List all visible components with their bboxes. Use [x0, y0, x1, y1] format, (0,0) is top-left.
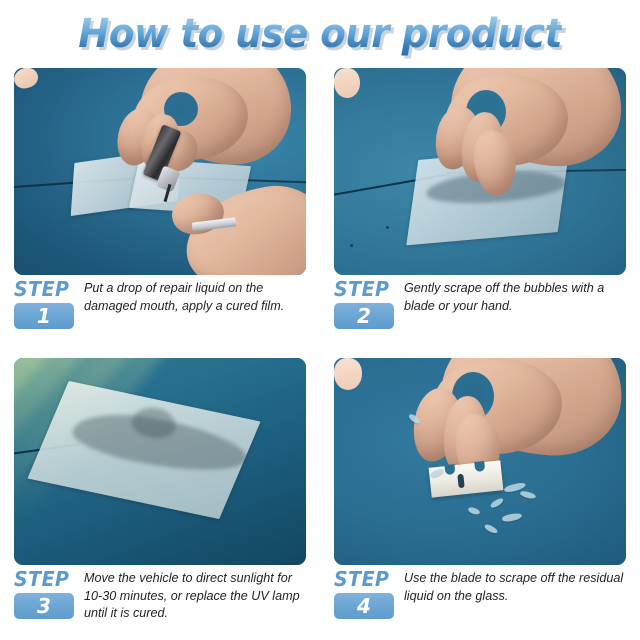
step-2-photo — [334, 68, 626, 275]
fingernail-shape — [334, 68, 361, 99]
step-cell-2: STEP 2 Gently scrape off the bubbles wit… — [320, 64, 640, 354]
step-cell-3: STEP 3 Move the vehicle to direct sunlig… — [0, 354, 320, 640]
step-3-badge: STEP 3 — [14, 568, 76, 619]
step-3-caption: STEP 3 Move the vehicle to direct sunlig… — [14, 568, 306, 623]
step-4-description: Use the blade to scrape off the residual… — [404, 568, 626, 605]
step-1-word: STEP — [14, 279, 73, 300]
step-1-badge: STEP 1 — [14, 278, 76, 329]
step-2-badge: STEP 2 — [334, 278, 396, 329]
fingernail-shape — [334, 358, 362, 390]
hand-icon — [334, 358, 362, 390]
step-4-badge: STEP 4 — [334, 568, 396, 619]
hand-icon — [334, 68, 360, 98]
step-3-word: STEP — [14, 569, 73, 590]
hand-icon — [14, 68, 38, 88]
step-2-caption: STEP 2 Gently scrape off the bubbles wit… — [334, 278, 626, 329]
step-4-photo — [334, 358, 626, 565]
steps-grid: STEP 1 Put a drop of repair liquid on th… — [0, 64, 640, 640]
step-2-word: STEP — [334, 279, 393, 300]
page-title: How to use our product How to use our pr… — [0, 8, 640, 60]
step-1-caption: STEP 1 Put a drop of repair liquid on th… — [14, 278, 306, 329]
step-4-number: 4 — [334, 593, 394, 619]
step-4-caption: STEP 4 Use the blade to scrape off the r… — [334, 568, 626, 619]
glass-speck — [386, 226, 389, 229]
step-1-number: 1 — [14, 303, 74, 329]
page-title-fill: How to use our product — [78, 11, 562, 57]
step-3-photo — [14, 358, 306, 565]
glass-speck — [350, 244, 353, 247]
step-cell-4: STEP 4 Use the blade to scrape off the r… — [320, 354, 640, 640]
fingernail-shape — [14, 68, 41, 91]
page-title-text: How to use our product How to use our pr… — [78, 11, 562, 57]
step-cell-1: STEP 1 Put a drop of repair liquid on th… — [0, 64, 320, 354]
step-3-description: Move the vehicle to direct sunlight for … — [84, 568, 306, 623]
product-instructions-page: How to use our product How to use our pr… — [0, 0, 640, 640]
step-2-description: Gently scrape off the bubbles with a bla… — [404, 278, 626, 315]
step-1-description: Put a drop of repair liquid on the damag… — [84, 278, 306, 315]
step-4-word: STEP — [334, 569, 393, 590]
step-2-number: 2 — [334, 303, 394, 329]
step-3-number: 3 — [14, 593, 74, 619]
step-1-photo — [14, 68, 306, 275]
